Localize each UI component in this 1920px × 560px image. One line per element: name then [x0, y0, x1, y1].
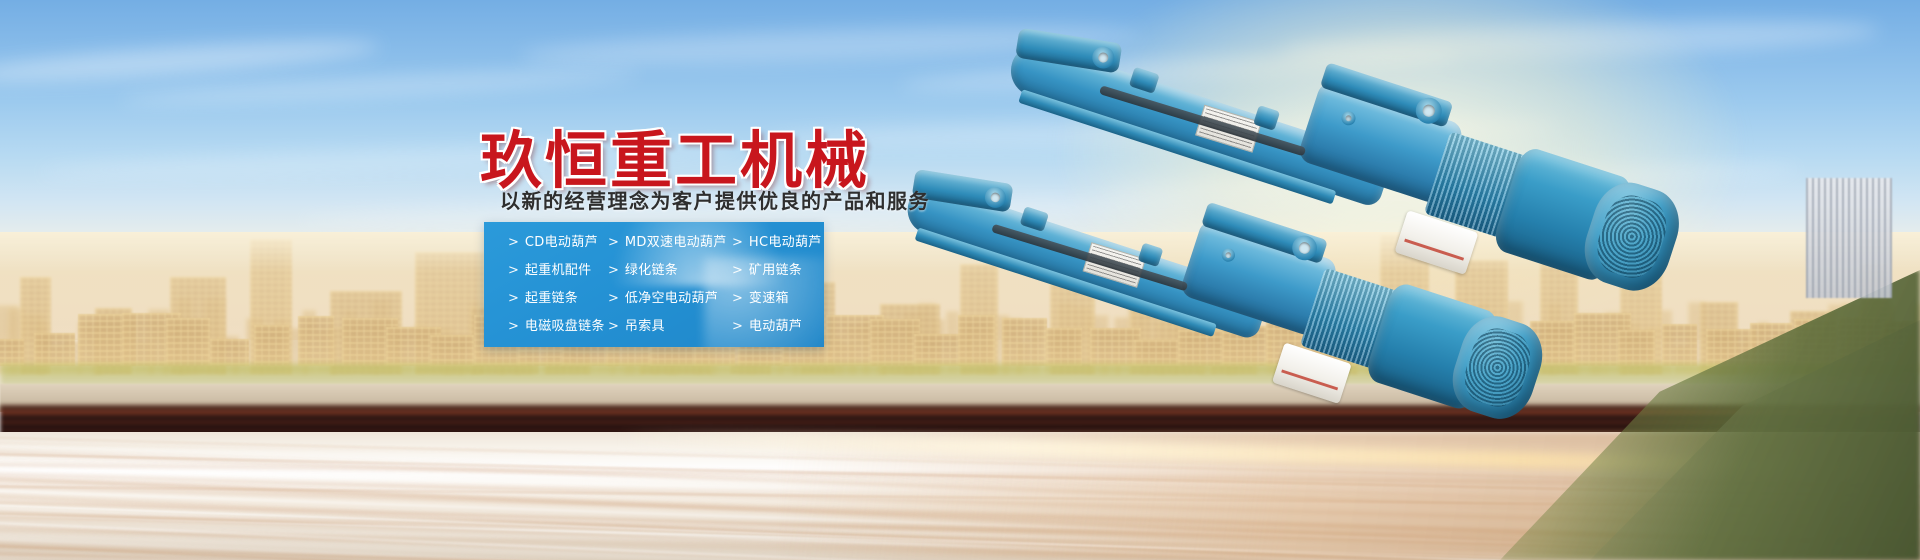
hero-banner: 玖恒重工机械 以新的经营理念为客户提供优良的产品和服务 >CD电动葫芦>MD双速… [0, 0, 1920, 560]
distant-tower-building [1806, 178, 1892, 298]
product-link[interactable]: >HC电动葫芦 [732, 229, 824, 257]
chevron-right-icon: > [732, 320, 743, 333]
page-subtitle: 以新的经营理念为客户提供优良的产品和服务 [500, 185, 930, 214]
product-link[interactable]: >起重机配件 [508, 257, 608, 285]
chevron-right-icon: > [732, 264, 743, 277]
product-link[interactable]: >起重链条 [508, 285, 608, 313]
product-link-label: 吊索具 [625, 320, 665, 333]
chevron-right-icon: > [608, 292, 619, 305]
product-link[interactable]: >矿用链条 [732, 257, 824, 285]
product-link[interactable]: >绿化链条 [608, 257, 732, 285]
product-link[interactable]: >电动葫芦 [732, 312, 824, 340]
product-link-label: HC电动葫芦 [749, 236, 822, 249]
chevron-right-icon: > [608, 236, 619, 249]
product-link-label: 变速箱 [749, 292, 789, 305]
product-link-label: 起重链条 [525, 292, 578, 305]
chevron-right-icon: > [608, 320, 619, 333]
gearbox-red-stripe [1404, 239, 1464, 261]
chevron-right-icon: > [508, 292, 519, 305]
product-link[interactable]: >CD电动葫芦 [508, 229, 608, 257]
product-link-label: 低净空电动葫芦 [625, 292, 718, 305]
chevron-right-icon: > [508, 236, 519, 249]
chevron-right-icon: > [508, 320, 519, 333]
chevron-right-icon: > [732, 236, 743, 249]
product-link-grid: >CD电动葫芦>MD双速电动葫芦>HC电动葫芦>起重机配件>绿化链条>矿用链条>… [484, 222, 824, 347]
product-link-label: CD电动葫芦 [525, 236, 598, 249]
product-link-label: 电动葫芦 [749, 320, 802, 333]
product-link[interactable]: >MD双速电动葫芦 [608, 229, 732, 257]
chevron-right-icon: > [608, 264, 619, 277]
product-link[interactable]: >吊索具 [608, 312, 732, 340]
product-link-label: 电磁吸盘链条 [525, 320, 605, 333]
product-list-panel: >CD电动葫芦>MD双速电动葫芦>HC电动葫芦>起重机配件>绿化链条>矿用链条>… [484, 222, 824, 347]
chevron-right-icon: > [732, 292, 743, 305]
product-link-label: 绿化链条 [625, 264, 678, 277]
product-link[interactable]: >低净空电动葫芦 [608, 285, 732, 313]
product-link-label: 起重机配件 [525, 264, 592, 277]
product-link-label: MD双速电动葫芦 [625, 236, 727, 249]
product-link[interactable]: >变速箱 [732, 285, 824, 313]
product-link[interactable]: >电磁吸盘链条 [508, 312, 608, 340]
chevron-right-icon: > [508, 264, 519, 277]
gearbox-red-stripe [1281, 369, 1338, 390]
product-link-label: 矿用链条 [749, 264, 802, 277]
